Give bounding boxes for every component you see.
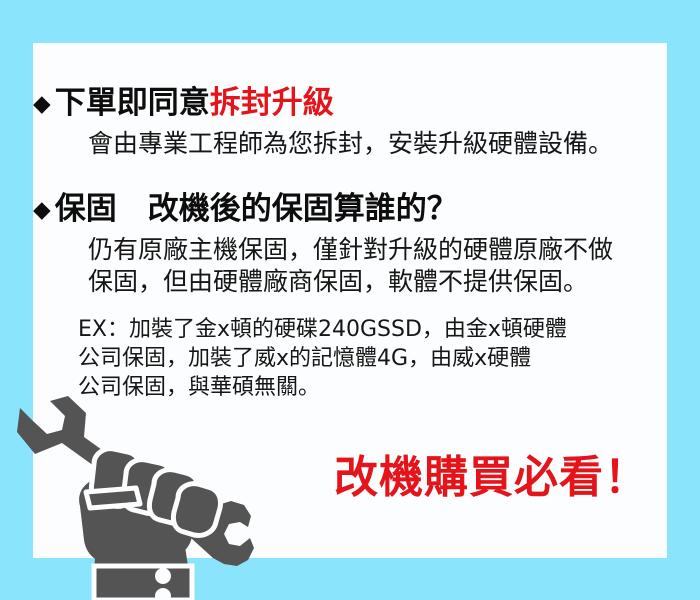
heading-plain-text: 保固 改機後的保固算誰的？ [55, 191, 458, 228]
heading-plain-text: 下單即同意 [55, 85, 210, 122]
fist-icon [79, 449, 220, 570]
section-heading-warranty: ◆ 保固 改機後的保固算誰的？ [33, 191, 667, 228]
section-warranty: ◆ 保固 改機後的保固算誰的？ 仍有原廠主機保固，僅針對升級的硬體原廠不做 保固… [33, 191, 667, 299]
section-unboxing-upgrade: ◆ 下單即同意 拆封升級 會由專業工程師為您拆封，安裝升級硬體設備。 [33, 85, 667, 160]
example-line-1: EX：加裝了金x頓的硬碟240GSSD，由金x頓硬體 [33, 315, 667, 344]
diamond-bullet-icon: ◆ [33, 197, 51, 224]
heading-accent-text: 拆封升級 [210, 85, 334, 122]
cuff-button-top [155, 568, 171, 584]
hand-holding-wrench-icon [8, 388, 278, 600]
section-body-unboxing: 會由專業工程師為您拆封，安裝升級硬體設備。 [88, 128, 667, 161]
diamond-bullet-icon: ◆ [33, 91, 51, 118]
section-body-warranty: 仍有原廠主機保固，僅針對升級的硬體原廠不做 保固，但由硬體廠商保固，軟體不提供保… [88, 234, 667, 299]
section-heading-unboxing: ◆ 下單即同意 拆封升級 [33, 85, 667, 122]
sleeve-cuff [94, 566, 192, 600]
example-line-2: 公司保固，加裝了威x的記憶體4G，由威x硬體 [33, 344, 667, 373]
poster-canvas: ◆ 下單即同意 拆封升級 會由專業工程師為您拆封，安裝升級硬體設備。 ◆ 保固 … [0, 0, 700, 600]
